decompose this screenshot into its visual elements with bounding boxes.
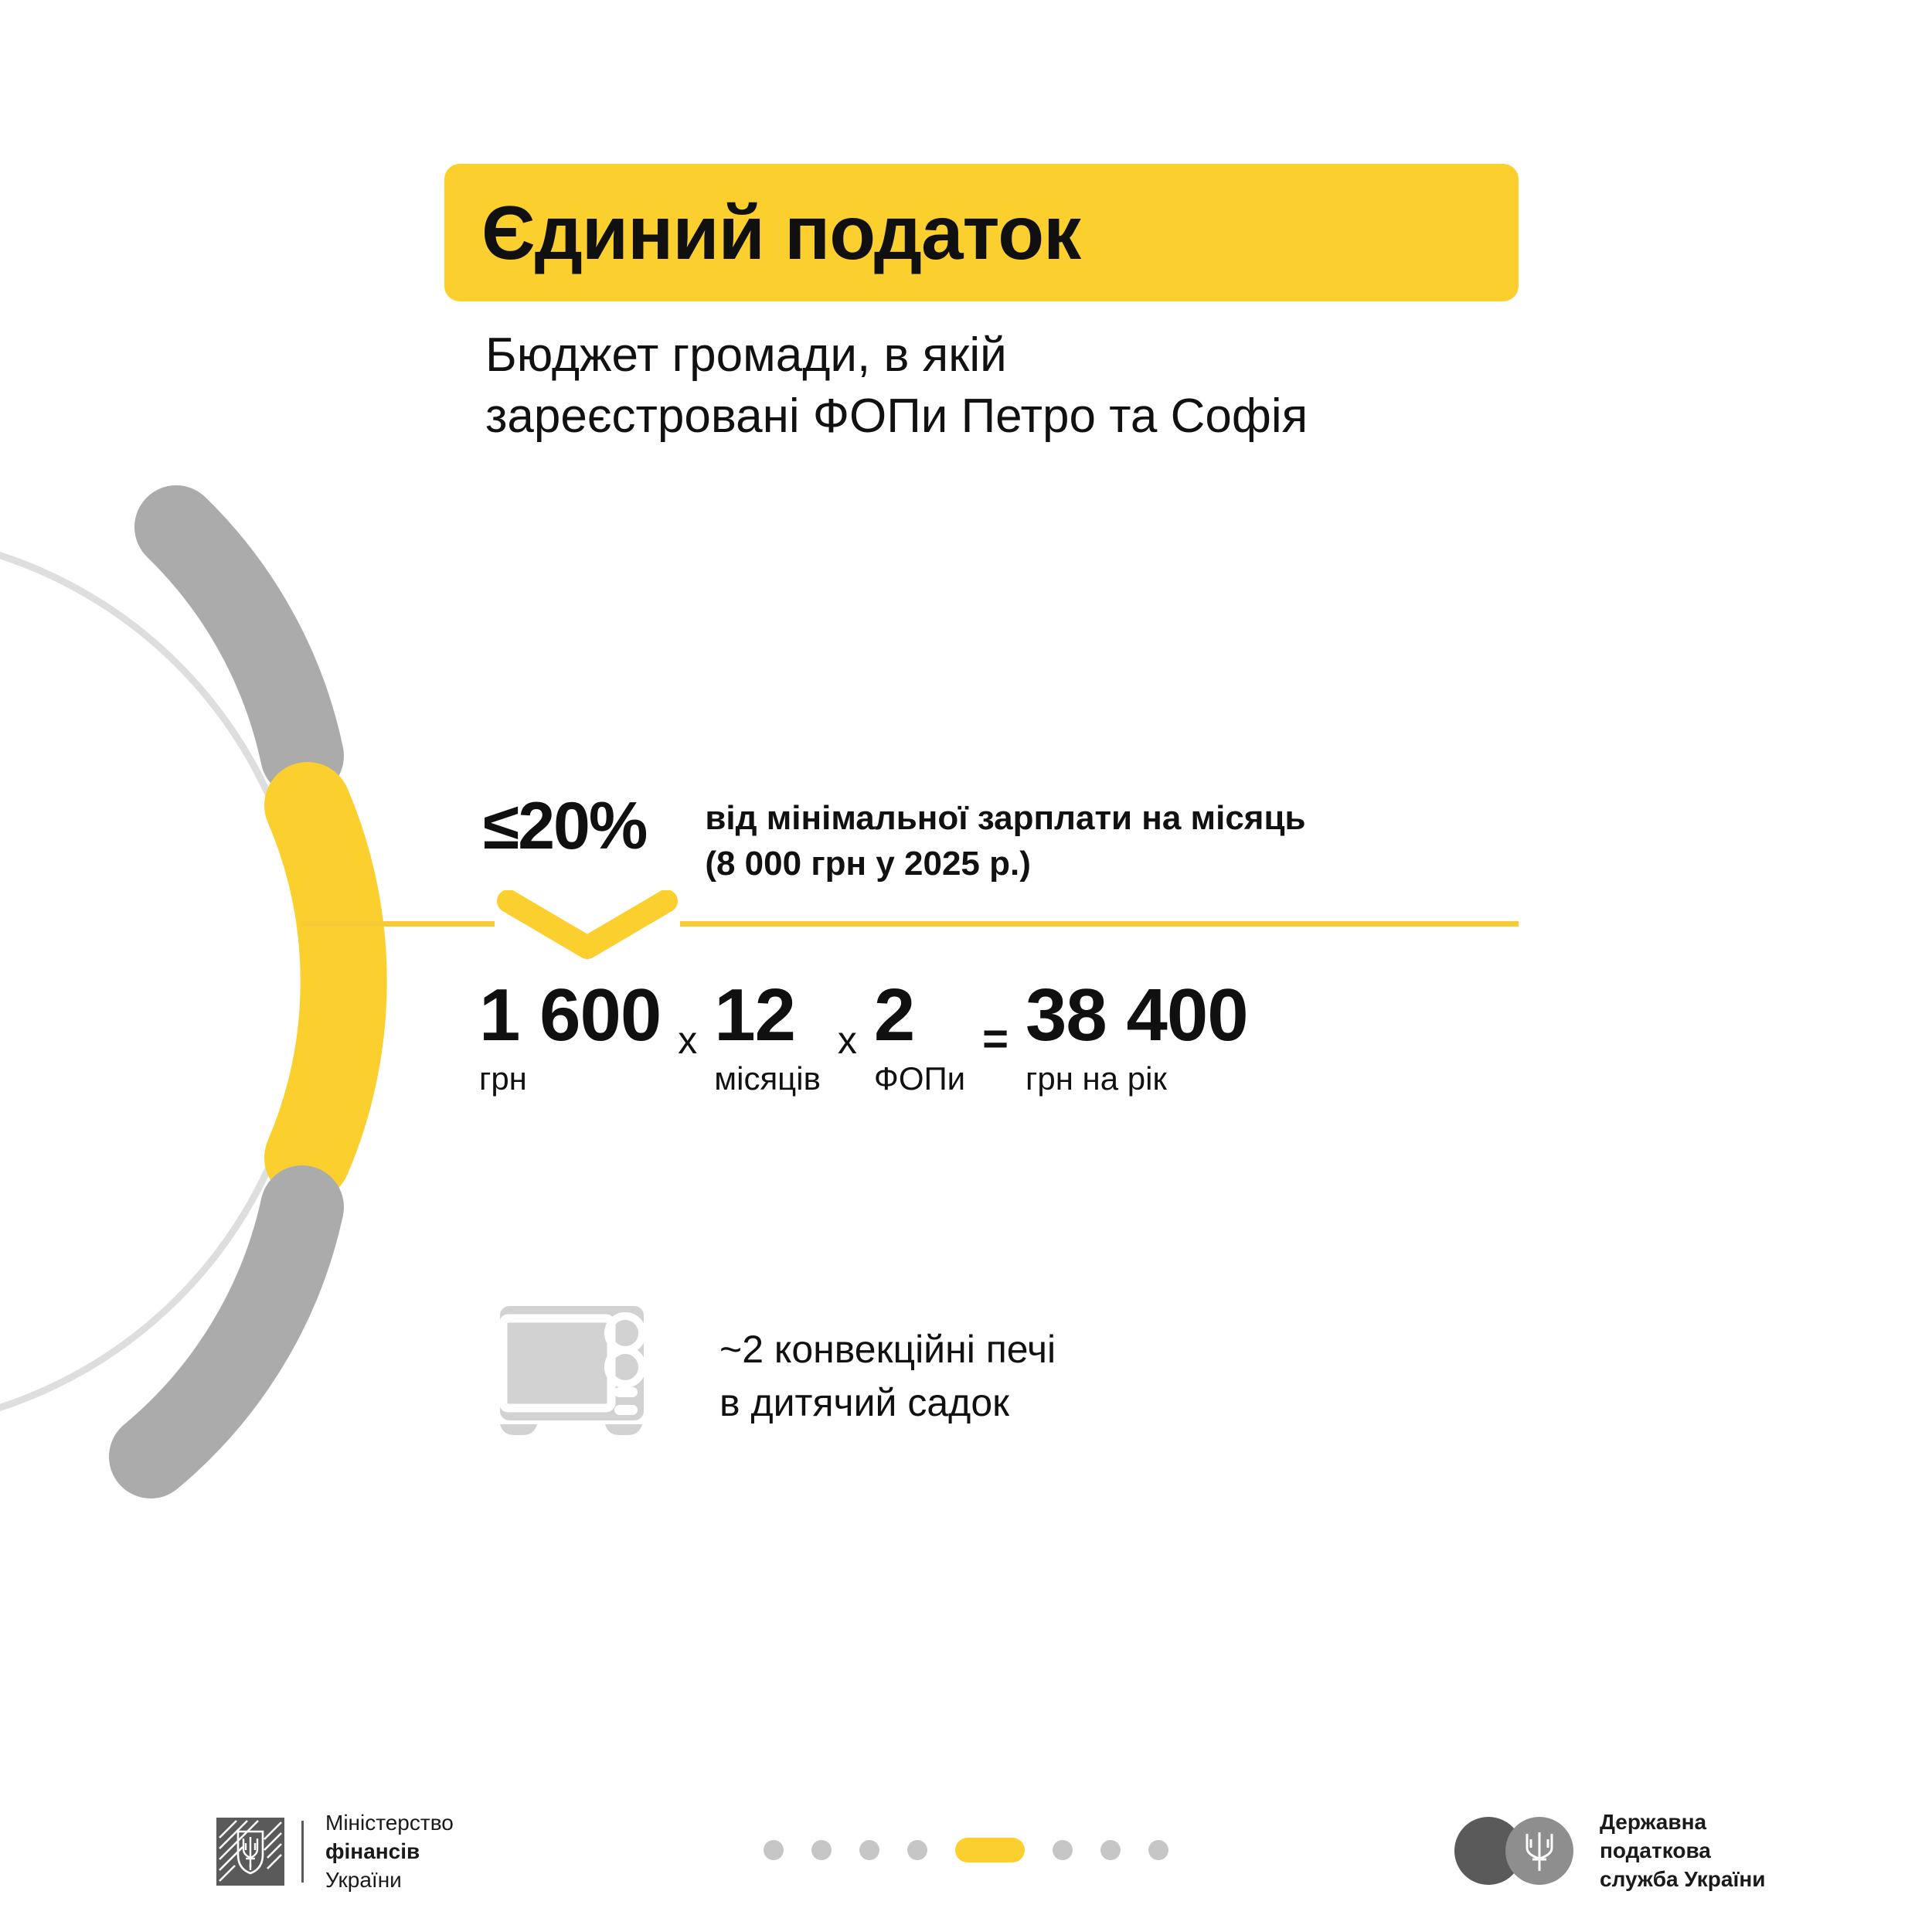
equivalent-line-1: ~2 конвекційні печі	[719, 1323, 1056, 1376]
subtitle-line-1: Бюджет громади, в якій	[485, 325, 1567, 386]
formula-term-3-label: ФОПи	[874, 1061, 965, 1097]
pagination-dot[interactable]	[1148, 1840, 1168, 1860]
formula-result: 38 400 грн на рік	[1026, 978, 1248, 1097]
formula-operator-equals: =	[965, 1013, 1026, 1065]
title-banner: Єдиний податок	[444, 164, 1519, 301]
rate-value: ≤20%	[483, 793, 646, 859]
chevron-down-icon	[495, 890, 680, 960]
rate-row: ≤20% від мінімальної зарплати на місяць …	[483, 793, 1306, 887]
pagination-dot[interactable]	[859, 1840, 879, 1860]
formula-result-label: грн на рік	[1026, 1061, 1248, 1097]
ministry-line-1: Міністерство	[325, 1808, 454, 1837]
pagination[interactable]	[0, 1838, 1932, 1862]
formula-term-2-number: 12	[714, 978, 821, 1053]
pagination-dot[interactable]	[764, 1840, 784, 1860]
convection-oven-icon	[498, 1306, 645, 1445]
page-title: Єдиний податок	[481, 195, 1080, 270]
equivalent-row: ~2 конвекційні печі в дитячий садок	[498, 1306, 1056, 1445]
tax-line-3: служба України	[1600, 1866, 1765, 1894]
formula-result-number: 38 400	[1026, 978, 1248, 1053]
tax-line-1: Державна	[1600, 1808, 1765, 1837]
formula-term-1-number: 1 600	[479, 978, 661, 1053]
pagination-dot-active[interactable]	[955, 1838, 1025, 1862]
rate-description: від мінімальної зарплати на місяць (8 00…	[705, 796, 1305, 887]
rate-desc-line-2: (8 000 грн у 2025 р.)	[705, 842, 1305, 887]
formula-term-3-number: 2	[874, 978, 965, 1053]
pagination-dot[interactable]	[1100, 1840, 1121, 1860]
horizontal-rule	[300, 921, 1519, 927]
equivalent-line-2: в дитячий садок	[719, 1376, 1056, 1430]
formula-term-2-label: місяців	[714, 1061, 821, 1097]
rate-desc-line-1: від мінімальної зарплати на місяць	[705, 796, 1305, 842]
formula-operator-multiply-2: х	[821, 1018, 874, 1063]
pagination-dot[interactable]	[907, 1840, 927, 1860]
page-subtitle: Бюджет громади, в якій зареєстровані ФОП…	[485, 325, 1567, 447]
formula-term-1: 1 600 грн	[479, 978, 661, 1097]
equivalent-text: ~2 конвекційні печі в дитячий садок	[719, 1323, 1056, 1430]
subtitle-line-2: зареєстровані ФОПи Петро та Софія	[485, 386, 1567, 447]
calculation-formula: 1 600 грн х 12 місяців х 2 ФОПи = 38 400…	[479, 978, 1248, 1097]
ministry-line-3: України	[325, 1866, 454, 1894]
formula-term-1-label: грн	[479, 1061, 661, 1097]
formula-term-2: 12 місяців	[714, 978, 821, 1097]
formula-operator-multiply-1: х	[661, 1018, 714, 1063]
pagination-dot[interactable]	[1053, 1840, 1073, 1860]
pagination-dot[interactable]	[811, 1840, 832, 1860]
formula-term-3: 2 ФОПи	[874, 978, 965, 1097]
